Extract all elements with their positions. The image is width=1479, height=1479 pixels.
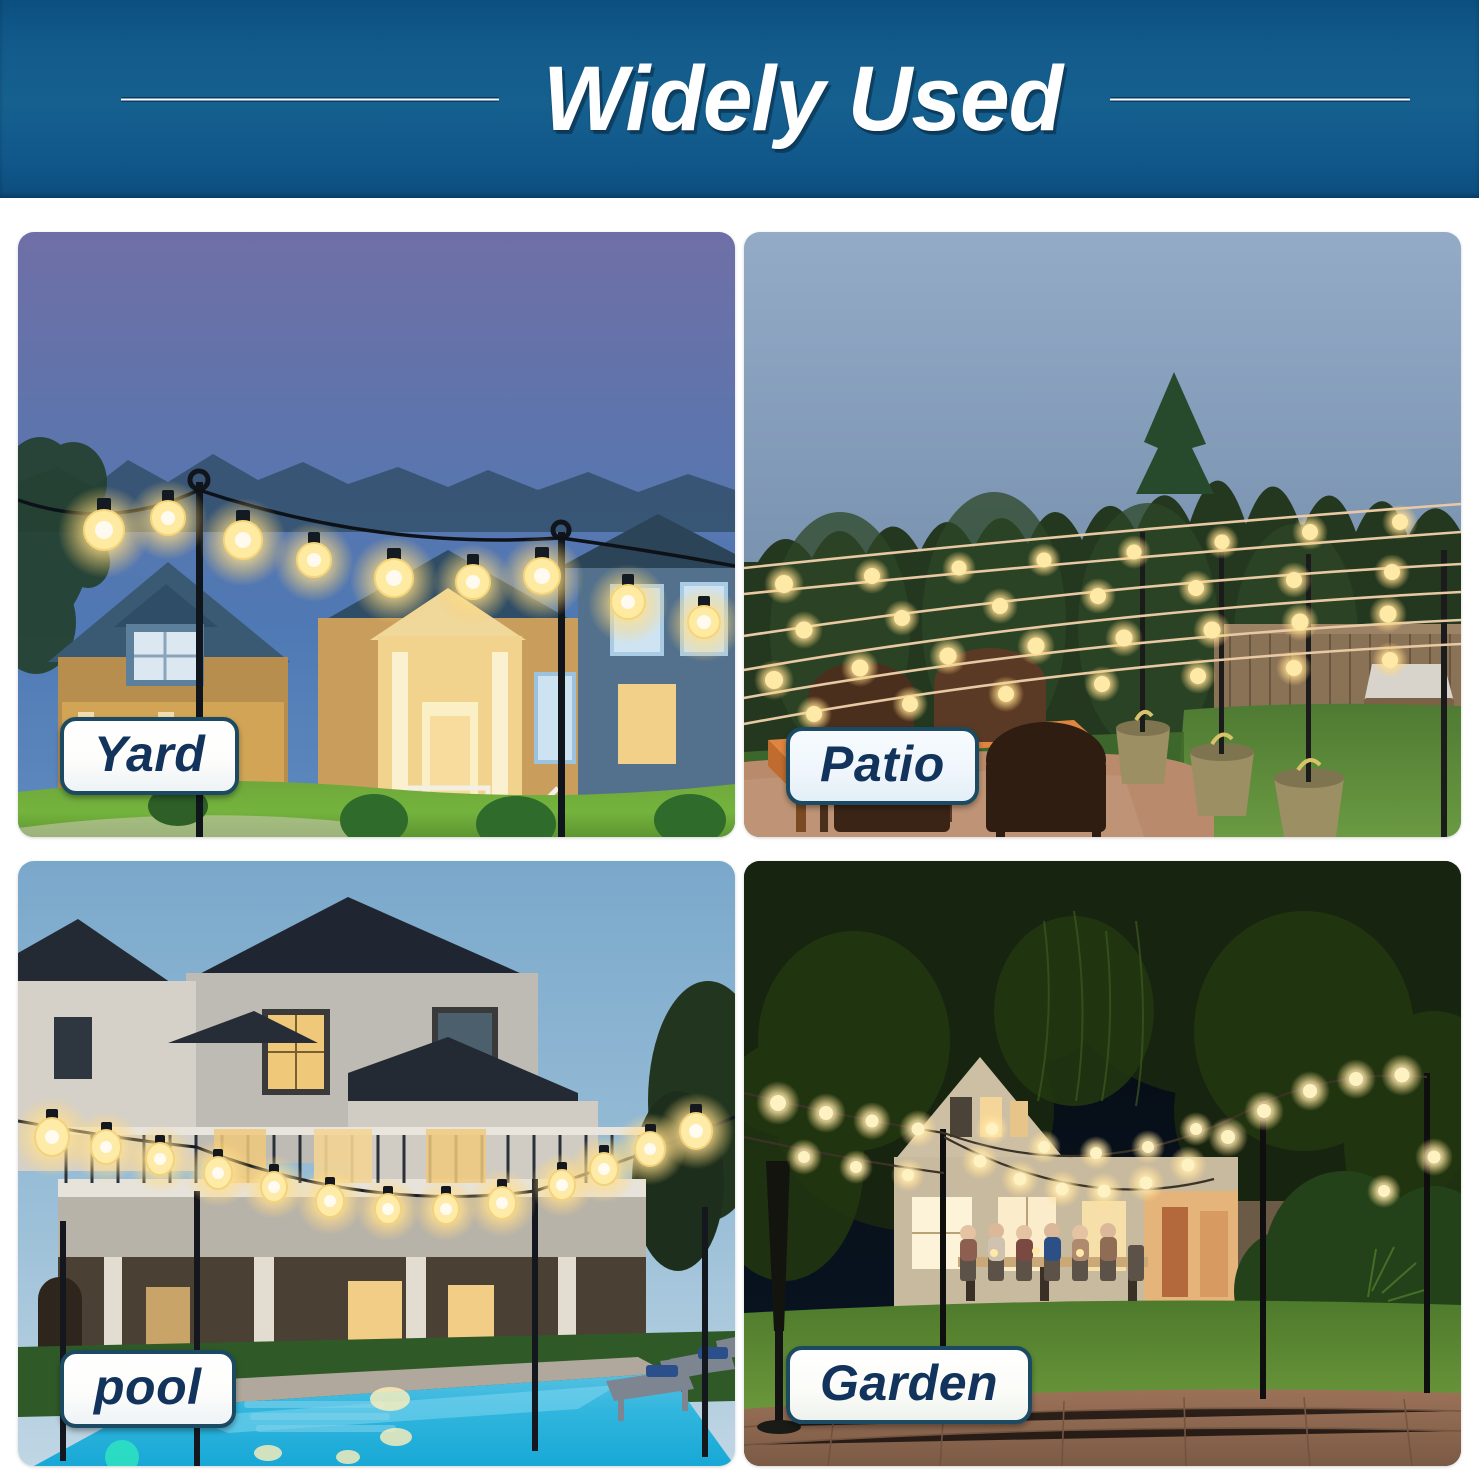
scene-grid: Yard — [18, 232, 1461, 1466]
header-rule-left-icon — [121, 97, 499, 102]
product-infographic: Widely Used — [0, 0, 1479, 1479]
scene-panel-patio: Patio — [744, 232, 1461, 837]
scene-panel-pool: pool — [18, 861, 735, 1466]
page-title: Widely Used — [543, 53, 1062, 145]
scene-panel-garden: Garden — [744, 861, 1461, 1466]
scene-label-garden: Garden — [786, 1346, 1032, 1424]
scene-label-patio-text: Patio — [820, 737, 945, 791]
scene-label-garden-text: Garden — [820, 1356, 998, 1410]
header-banner: Widely Used — [0, 0, 1479, 198]
scene-label-yard-text: Yard — [94, 727, 205, 781]
scene-label-patio: Patio — [786, 727, 979, 805]
scene-panel-yard: Yard — [18, 232, 735, 837]
scene-label-pool-text: pool — [94, 1360, 202, 1414]
header-rule-right-icon — [1110, 97, 1410, 102]
scene-label-yard: Yard — [60, 717, 239, 795]
header-banner-inner: Widely Used — [0, 53, 1479, 145]
scene-label-pool: pool — [60, 1350, 236, 1428]
